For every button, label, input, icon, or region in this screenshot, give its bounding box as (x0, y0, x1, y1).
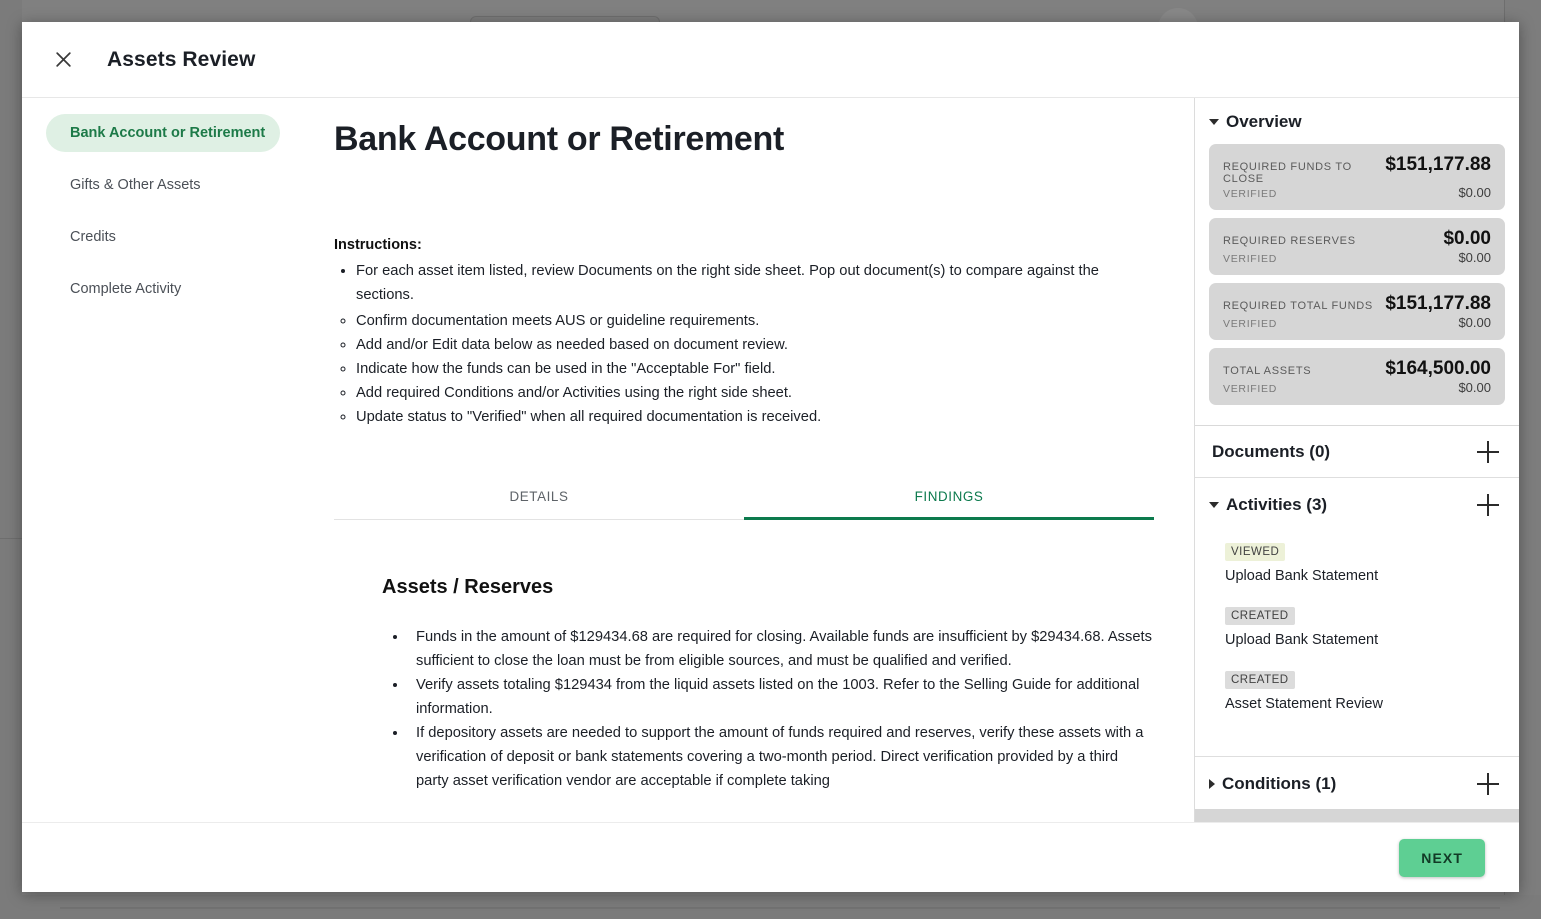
instruction-sub-item: Indicate how the funds can be used in th… (356, 357, 1154, 381)
overview-card: REQUIRED TOTAL FUNDS $151,177.88 VERIFIE… (1209, 283, 1505, 340)
chevron-right-icon (1209, 779, 1215, 789)
tab-details[interactable]: DETAILS (334, 477, 744, 520)
overview-card-sub-label: VERIFIED (1223, 253, 1277, 265)
instruction-primary: For each asset item listed, review Docum… (356, 259, 1154, 307)
sidebar-item-bank-account-or-retirement[interactable]: Bank Account or Retirement (46, 114, 280, 152)
activities-section-header[interactable]: Activities (3) (1195, 478, 1519, 530)
add-activity-plus-icon[interactable] (1475, 492, 1501, 518)
overview-card-amount: $151,177.88 (1385, 293, 1491, 315)
activity-name: Upload Bank Statement (1225, 632, 1505, 648)
activity-item[interactable]: CREATED Upload Bank Statement (1225, 606, 1505, 648)
overview-card-sub-amount: $0.00 (1458, 380, 1491, 395)
overview-card-amount: $164,500.00 (1385, 358, 1491, 380)
activities-title: Activities (3) (1226, 495, 1475, 515)
status-badge: CREATED (1225, 607, 1295, 625)
overview-title: Overview (1226, 112, 1501, 132)
activity-name: Asset Statement Review (1225, 696, 1505, 712)
tab-findings[interactable]: FINDINGS (744, 477, 1154, 520)
overview-card-sub-label: VERIFIED (1223, 383, 1277, 395)
overview-section-header[interactable]: Overview (1195, 98, 1519, 144)
add-document-plus-icon[interactable] (1475, 439, 1501, 465)
modal-sidebar: Bank Account or Retirement Gifts & Other… (22, 98, 294, 822)
modal-title: Assets Review (107, 48, 255, 72)
content-clip-mask (294, 796, 1194, 822)
overview-card-label: REQUIRED FUNDS TO CLOSE (1223, 161, 1385, 185)
side-sheet: Overview REQUIRED FUNDS TO CLOSE $151,17… (1195, 98, 1519, 822)
activities-list: VIEWED Upload Bank Statement CREATED Upl… (1195, 530, 1519, 756)
activity-item[interactable]: CREATED Asset Statement Review (1225, 670, 1505, 712)
instructions-title: Instructions: (334, 237, 1154, 253)
page-title: Bank Account or Retirement (334, 120, 1154, 159)
overview-card-amount: $0.00 (1443, 228, 1491, 250)
documents-title: Documents (0) (1212, 442, 1475, 462)
findings-list: Funds in the amount of $129434.68 are re… (408, 625, 1154, 793)
main-content-scroll[interactable]: Bank Account or Retirement Instructions:… (294, 98, 1194, 822)
overview-card-sub-amount: $0.00 (1458, 185, 1491, 200)
main-content: Bank Account or Retirement Instructions:… (294, 98, 1195, 822)
finding-item: If depository assets are needed to suppo… (408, 721, 1154, 793)
finding-item: Funds in the amount of $129434.68 are re… (408, 625, 1154, 673)
modal-body: Bank Account or Retirement Gifts & Other… (22, 98, 1519, 822)
sidebar-item-complete-activity[interactable]: Complete Activity (46, 270, 280, 308)
sidebar-item-label: Credits (70, 229, 116, 245)
sidebar-item-label: Bank Account or Retirement (70, 125, 265, 141)
instruction-sub-item: Add required Conditions and/or Activitie… (356, 381, 1154, 405)
instruction-sub-item: Confirm documentation meets AUS or guide… (356, 309, 1154, 333)
overview-card-sub-label: VERIFIED (1223, 318, 1277, 330)
sidebar-item-label: Complete Activity (70, 281, 181, 297)
conditions-title: Conditions (1) (1222, 774, 1475, 794)
instructions-sub-list: Confirm documentation meets AUS or guide… (356, 309, 1154, 429)
activity-item[interactable]: VIEWED Upload Bank Statement (1225, 542, 1505, 584)
activity-name: Upload Bank Statement (1225, 568, 1505, 584)
background-bottom-line (60, 907, 1500, 909)
assets-review-modal: Assets Review Bank Account or Retirement… (22, 22, 1519, 892)
conditions-section-header[interactable]: Conditions (1) (1195, 757, 1519, 809)
sidebar-item-credits[interactable]: Credits (46, 218, 280, 256)
instruction-sub-item: Update status to "Verified" when all req… (356, 405, 1154, 429)
documents-section-header[interactable]: Documents (0) (1195, 425, 1519, 477)
status-badge: VIEWED (1225, 543, 1285, 561)
overview-card: REQUIRED FUNDS TO CLOSE $151,177.88 VERI… (1209, 144, 1505, 210)
overview-card-label: TOTAL ASSETS (1223, 365, 1311, 377)
instruction-sub-item: Add and/or Edit data below as needed bas… (356, 333, 1154, 357)
overview-card-sub-label: VERIFIED (1223, 188, 1277, 200)
findings-section: Assets / Reserves Funds in the amount of… (334, 520, 1154, 793)
overview-card: TOTAL ASSETS $164,500.00 VERIFIED $0.00 (1209, 348, 1505, 405)
chevron-down-icon (1209, 502, 1219, 508)
modal-header: Assets Review (22, 22, 1519, 98)
sidebar-item-gifts-other-assets[interactable]: Gifts & Other Assets (46, 166, 280, 204)
findings-heading: Assets / Reserves (382, 576, 1154, 599)
finding-item: Verify assets totaling $129434 from the … (408, 673, 1154, 721)
chevron-down-icon (1209, 119, 1219, 125)
overview-card-sub-amount: $0.00 (1458, 315, 1491, 330)
instructions-list: For each asset item listed, review Docum… (356, 259, 1154, 307)
modal-footer: NEXT (22, 822, 1519, 892)
add-condition-plus-icon[interactable] (1475, 771, 1501, 797)
next-button[interactable]: NEXT (1399, 839, 1485, 877)
overview-card-label: REQUIRED RESERVES (1223, 235, 1356, 247)
background-divider (0, 538, 22, 539)
sidebar-item-label: Gifts & Other Assets (70, 177, 201, 193)
overview-card-sub-amount: $0.00 (1458, 250, 1491, 265)
status-badge: CREATED (1225, 671, 1295, 689)
close-icon[interactable] (46, 43, 80, 77)
overview-card: REQUIRED RESERVES $0.00 VERIFIED $0.00 (1209, 218, 1505, 275)
overview-card-label: REQUIRED TOTAL FUNDS (1223, 300, 1373, 312)
overview-cards: REQUIRED FUNDS TO CLOSE $151,177.88 VERI… (1195, 144, 1519, 425)
content-tabs: DETAILS FINDINGS (334, 477, 1154, 520)
background-left-strip (0, 0, 22, 919)
side-sheet-footer-strip (1195, 809, 1519, 822)
overview-card-amount: $151,177.88 (1385, 154, 1491, 176)
